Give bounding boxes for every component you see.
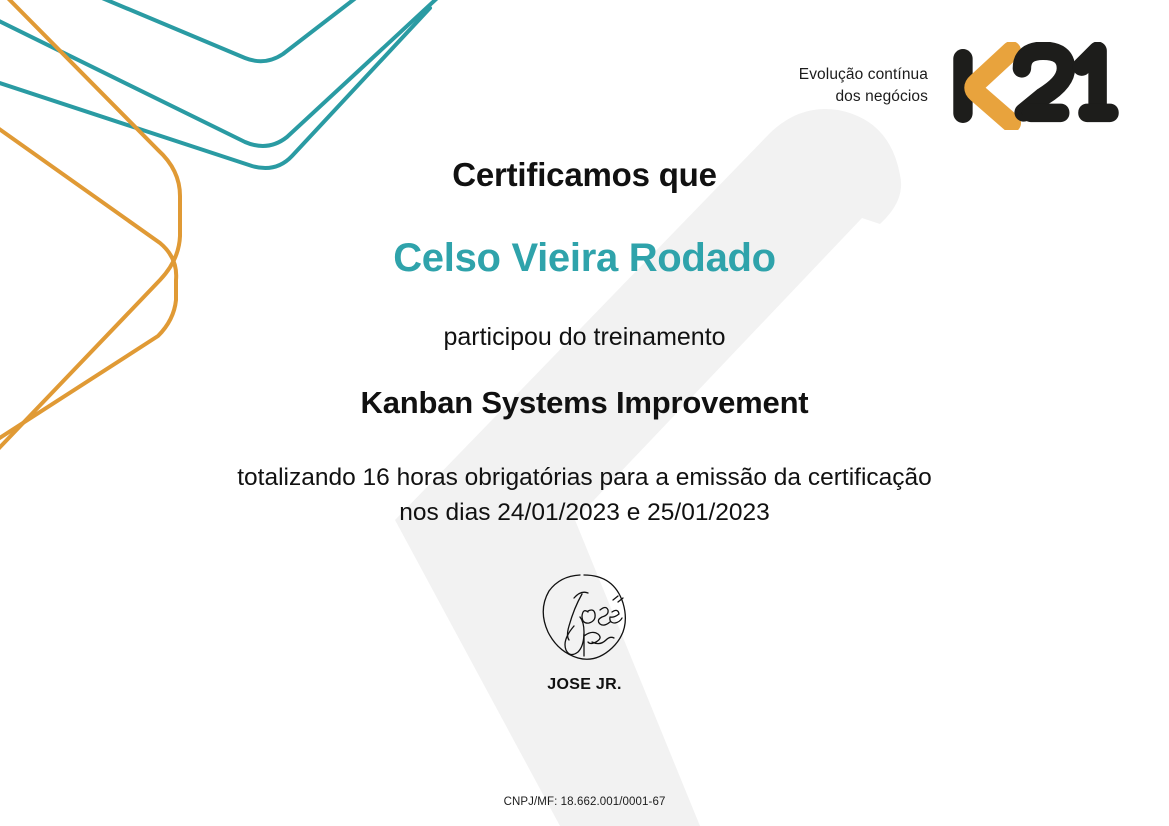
certificate-page: Evolução contínua dos negócios Certifica… [0,0,1169,826]
course-name: Kanban Systems Improvement [0,385,1169,421]
brand-tagline-line1: Evolução contínua [799,64,928,86]
details-text: totalizando 16 horas obrigatórias para a… [0,461,1169,531]
k21-logo [948,42,1124,130]
participation-text: participou do treinamento [0,323,1169,352]
brand-tagline: Evolução contínua dos negócios [799,64,928,108]
brand-tagline-line2: dos negócios [799,86,928,108]
details-line-1: totalizando 16 horas obrigatórias para a… [0,461,1169,496]
signatory-name: JOSE JR. [0,676,1169,694]
teal-chevron-inner [0,8,430,168]
intro-text: Certificamos que [0,156,1169,194]
teal-chevron-mid [0,0,500,146]
details-line-2: nos dias 24/01/2023 e 25/01/2023 [0,496,1169,531]
signature-block: JOSE JR. [0,570,1169,694]
teal-chevron-outer [0,0,470,61]
footer-cnpj: CNPJ/MF: 18.662.001/0001-67 [0,796,1169,808]
handwritten-signature-icon [530,570,640,670]
brand-header: Evolução contínua dos negócios [799,42,1124,130]
recipient-name: Celso Vieira Rodado [0,236,1169,281]
